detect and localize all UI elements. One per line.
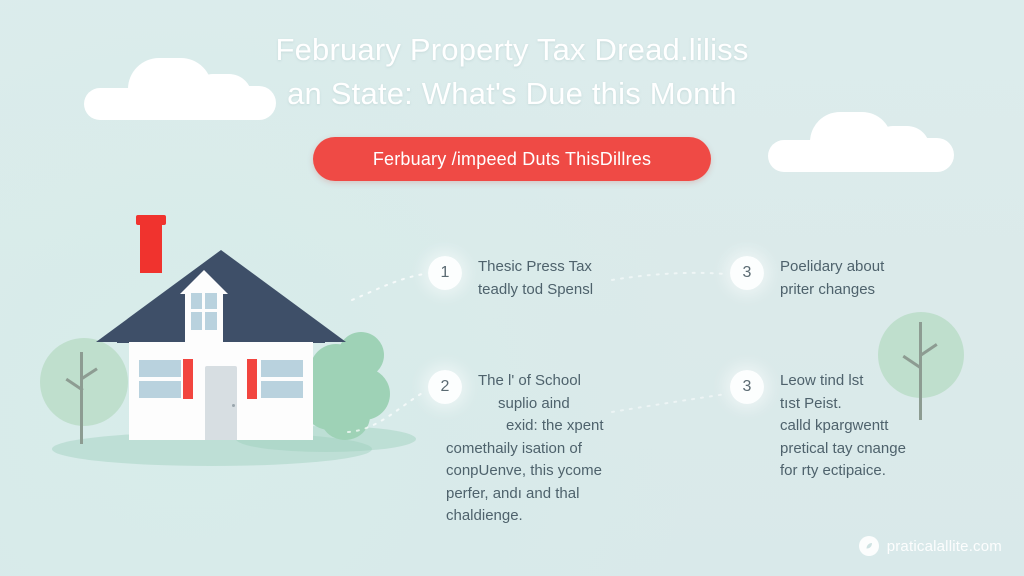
cloud-right — [768, 112, 954, 172]
window-left — [139, 360, 181, 398]
infographic-canvas: February Property Tax Dread.liliss an St… — [0, 0, 1024, 576]
watermark-text: praticalallite.com — [887, 538, 1002, 555]
item-number: 1 — [441, 264, 450, 282]
window-right — [261, 360, 303, 398]
shutter-right — [247, 359, 257, 399]
site-watermark[interactable]: praticalallite.com — [859, 536, 1002, 556]
item-text: Leow tind lst tıst Peist. calld kpargwen… — [780, 370, 906, 483]
item-number-badge: 1 — [428, 256, 462, 290]
list-item[interactable]: 3 Leow tind lst tıst Peist. calld kpargw… — [730, 370, 906, 483]
dormer-glass — [191, 293, 217, 330]
item-text: Thesic Press Tax teadly tod Spensl — [478, 256, 593, 301]
item-number: 3 — [743, 378, 752, 396]
item-number-badge: 3 — [730, 370, 764, 404]
circle-leaf-icon — [859, 536, 879, 556]
item-text: Poelidary about priter changes — [780, 256, 884, 301]
item-number: 3 — [743, 264, 752, 282]
item-text: The l' of School suplio aind exid: the x… — [478, 370, 604, 528]
list-item[interactable]: 2 The l' of School suplio aind exid: the… — [428, 370, 604, 528]
item-number-badge: 2 — [428, 370, 462, 404]
door-knob — [232, 404, 235, 407]
shutter-left — [183, 359, 193, 399]
item-number: 2 — [441, 378, 450, 396]
front-door — [205, 366, 237, 440]
house — [96, 215, 346, 440]
list-item[interactable]: 3 Poelidary about priter changes — [730, 256, 884, 301]
house-illustration — [0, 0, 420, 480]
item-number-badge: 3 — [730, 256, 764, 290]
list-item[interactable]: 1 Thesic Press Tax teadly tod Spensl — [428, 256, 593, 301]
house-wall — [129, 342, 313, 440]
